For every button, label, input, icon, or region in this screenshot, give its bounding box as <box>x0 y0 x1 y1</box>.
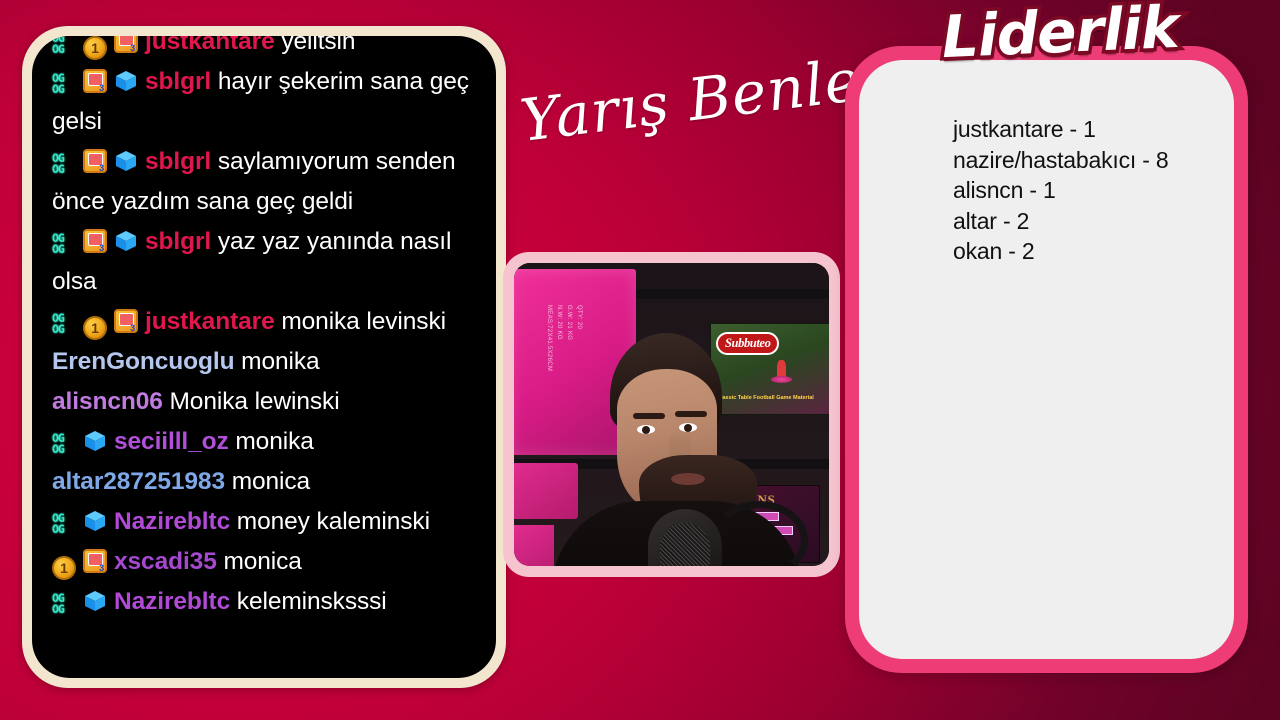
chat-message-text: money kaleminski <box>230 508 430 535</box>
leaderboard-row: alisncn - 1 <box>953 175 1206 206</box>
card-badge-icon <box>114 36 138 53</box>
leaderboard-row-separator: - <box>1136 147 1156 173</box>
chat-username[interactable]: sblgrl <box>145 68 211 95</box>
chat-message: OGOG1justkantare yelitsin <box>52 36 482 62</box>
leaderboard-row: justkantare - 1 <box>953 114 1206 145</box>
blue-cube-badge-icon <box>114 69 138 93</box>
leaderboard-row-score: 2 <box>1017 208 1030 234</box>
chat-username[interactable]: altar287251983 <box>52 468 225 495</box>
chat-message-text: monika levinski <box>275 308 446 335</box>
chat-message-text: monika <box>229 428 314 455</box>
blue-cube-badge-icon <box>83 589 107 613</box>
carton-text: G.W: 21 KG <box>566 305 572 340</box>
card-badge-icon <box>83 149 107 173</box>
card-badge-icon <box>83 69 107 93</box>
chat-panel: OGOG1justkantare yelitsinOGOGsblgrl hayı… <box>22 26 506 688</box>
chat-username[interactable]: Nazirebltc <box>114 588 230 615</box>
person-mouth <box>671 473 705 485</box>
chat-username[interactable]: seciilll_oz <box>114 428 229 455</box>
carton-text: MEAS:72X41.5X26CM <box>546 305 552 371</box>
chat-username[interactable]: xscadi35 <box>114 548 217 575</box>
leaderboard-row-score: 1 <box>1043 177 1056 203</box>
chat-badge-group: OGOG1 <box>52 36 145 55</box>
chat-username[interactable]: justkantare <box>145 308 275 335</box>
chat-username[interactable]: Nazirebltc <box>114 508 230 535</box>
chat-username[interactable]: justkantare <box>145 36 275 55</box>
person-eyebrow <box>675 411 707 417</box>
leaderboard-row-separator: - <box>1023 177 1043 203</box>
leaderboard-row-separator: - <box>997 208 1017 234</box>
leaderboard-row: okan - 2 <box>953 236 1206 267</box>
chat-badge-group: OGOG <box>52 148 145 175</box>
chat-panel-inner: OGOG1justkantare yelitsinOGOGsblgrl hayı… <box>32 36 496 678</box>
blue-cube-badge-icon <box>83 509 107 533</box>
chat-badge-group: OGOG <box>52 228 145 255</box>
leaderboard-row-name: altar <box>953 208 997 234</box>
chat-message-text: keleminsksssi <box>230 588 387 615</box>
blue-cube-badge-icon <box>114 149 138 173</box>
stream-overlay-stage: OGOG1justkantare yelitsinOGOGsblgrl hayı… <box>0 0 1280 720</box>
leaderboard-row-name: alisncn <box>953 177 1023 203</box>
chat-message: alisncn06 Monika lewinski <box>52 382 482 422</box>
chat-badge-group: 1 <box>52 548 114 575</box>
chat-username[interactable]: ErenGoncuoglu <box>52 348 234 375</box>
leaderboard-row-name: okan <box>953 238 1002 264</box>
og-badge-icon: OGOG <box>52 232 76 256</box>
og-badge-icon: OGOG <box>52 592 76 616</box>
webcam-video-feed[interactable]: QTY: 20 G.W: 21 KG N.W: 20 KG MEAS:72X41… <box>514 263 829 566</box>
leaderboard-row: altar - 2 <box>953 206 1206 237</box>
chat-message: OGOGNazirebltc money kaleminski <box>52 502 482 542</box>
leaderboard-row-score: 1 <box>1083 116 1096 142</box>
chat-username[interactable]: alisncn06 <box>52 388 163 415</box>
og-badge-icon: OGOG <box>52 72 76 96</box>
chat-username[interactable]: sblgrl <box>145 148 211 175</box>
card-badge-icon <box>83 229 107 253</box>
chat-message: OGOGsblgrl saylamıyorum senden önce yazd… <box>52 142 482 222</box>
og-badge-icon: OGOG <box>52 36 76 56</box>
leaderboard-row: nazire/hastabakıcı - 8 <box>953 145 1206 176</box>
person-eyebrow <box>633 413 665 419</box>
leaderboard-row-name: justkantare <box>953 116 1063 142</box>
blue-cube-badge-icon <box>114 229 138 253</box>
og-badge-icon: OGOG <box>52 432 76 456</box>
chat-message: 1xscadi35 monica <box>52 542 482 582</box>
leaderboard-list: justkantare - 1nazire/hastabakıcı - 8ali… <box>859 60 1234 659</box>
leaderboard-row-separator: - <box>1002 238 1022 264</box>
leaderboard-panel: justkantare - 1nazire/hastabakıcı - 8ali… <box>845 46 1248 673</box>
blue-cube-badge-icon <box>83 429 107 453</box>
chat-message: OGOG1justkantare monika levinski <box>52 302 482 342</box>
chat-username[interactable]: sblgrl <box>145 228 211 255</box>
chat-message-text: monika <box>234 348 319 375</box>
card-badge-icon <box>114 309 138 333</box>
founder-coin-badge-icon: 1 <box>52 556 76 580</box>
leaderboard-row-separator: - <box>1063 116 1083 142</box>
chat-message-text: Monika lewinski <box>163 388 340 415</box>
subbuteo-figure <box>777 360 786 378</box>
og-badge-icon: OGOG <box>52 152 76 176</box>
chat-message-text: yelitsin <box>275 36 356 55</box>
leaderboard-row-name: nazire/hastabakıcı <box>953 147 1136 173</box>
webcam-frame: QTY: 20 G.W: 21 KG N.W: 20 KG MEAS:72X41… <box>503 252 840 577</box>
carton-text: N.W: 20 KG <box>556 305 562 340</box>
stream-script-title: Yarış Benle <box>514 26 856 181</box>
chat-message: OGOGsblgrl hayır şekerim sana geç gelsi <box>52 62 482 142</box>
og-badge-icon: OGOG <box>52 512 76 536</box>
chat-message: altar287251983 monica <box>52 462 482 502</box>
chat-badge-group: OGOG <box>52 588 114 615</box>
chat-message-text: monica <box>225 468 310 495</box>
pink-box-small <box>514 525 554 566</box>
founder-coin-badge-icon: 1 <box>83 36 107 60</box>
founder-coin-badge-icon: 1 <box>83 316 107 340</box>
chat-message: OGOGsblgrl yaz yaz yanında nasıl olsa <box>52 222 482 302</box>
og-badge-icon: OGOG <box>52 312 76 336</box>
chat-message: ErenGoncuoglu monika <box>52 342 482 382</box>
pink-box-small <box>514 463 578 519</box>
chat-badge-group: OGOG <box>52 68 145 95</box>
chat-message-list[interactable]: OGOG1justkantare yelitsinOGOGsblgrl hayı… <box>32 36 496 622</box>
chat-message: OGOGseciilll_oz monika <box>52 422 482 462</box>
chat-badge-group: OGOG1 <box>52 308 145 335</box>
chat-badge-group: OGOG <box>52 428 114 455</box>
leaderboard-title: Liderlik <box>914 0 1207 72</box>
leaderboard-row-score: 8 <box>1156 147 1169 173</box>
carton-text: QTY: 20 <box>576 305 582 329</box>
leaderboard-row-score: 2 <box>1022 238 1035 264</box>
chat-message: OGOGNazirebltc keleminsksssi <box>52 582 482 622</box>
card-badge-icon <box>83 549 107 573</box>
chat-message-text: monica <box>217 548 302 575</box>
person-face <box>617 369 717 511</box>
person-eye <box>637 425 655 434</box>
chat-badge-group: OGOG <box>52 508 114 535</box>
